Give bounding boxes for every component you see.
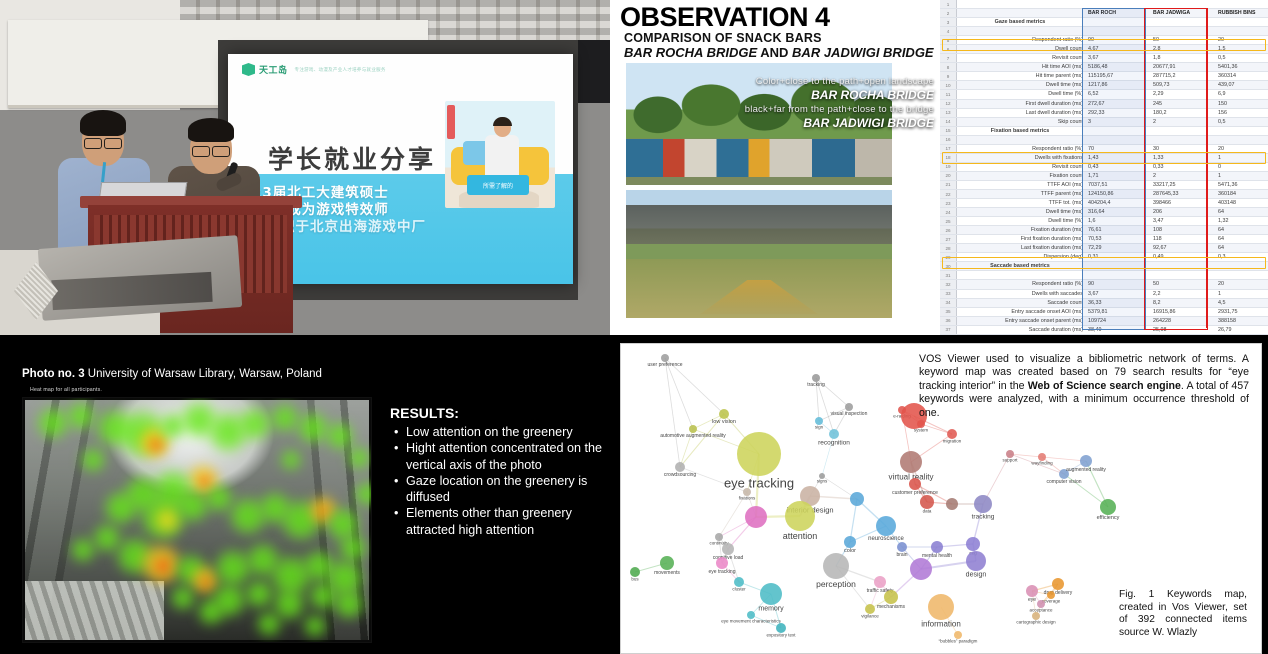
cell[interactable]: 360184	[1215, 191, 1268, 197]
network-node[interactable]	[1047, 591, 1055, 599]
subject-conj: AND	[757, 45, 792, 60]
library-floor	[25, 581, 164, 640]
spreadsheet-row[interactable]: 17Respondent ratio (%)70302020	[940, 145, 1268, 154]
cell[interactable]: 1,5	[1215, 46, 1268, 52]
spreadsheet-row[interactable]: 6Dwell count4,672,81,52,33	[940, 45, 1268, 54]
network-node[interactable]	[745, 506, 767, 528]
row-label: Hit time parent (ms)	[957, 73, 1085, 79]
network-node[interactable]	[966, 551, 986, 571]
row-label: Last dwell duration (ms)	[957, 110, 1085, 116]
network-node[interactable]	[1026, 585, 1038, 597]
network-node[interactable]	[689, 425, 697, 433]
heatmap-results-panel: Photo no. 3 University of Warsaw Library…	[0, 343, 610, 652]
cell[interactable]: 64	[1215, 236, 1268, 242]
row-label: Dwell time (%)	[957, 218, 1085, 224]
cell[interactable]: 64	[1215, 245, 1268, 251]
row-label: TTFF parent (ms)	[957, 191, 1085, 197]
observation-subtitle: COMPARISON OF SNACK BARS	[624, 31, 822, 45]
spreadsheet-row[interactable]: 16	[940, 136, 1268, 145]
cell[interactable]: 70	[1085, 146, 1150, 152]
row-label: TTFF AOI (ms)	[957, 182, 1085, 188]
spreadsheet-row[interactable]: 19Revisit count0,430,3300,5	[940, 163, 1268, 172]
row-number: 34	[940, 299, 957, 307]
network-node[interactable]	[716, 557, 728, 569]
row-number: 5	[940, 36, 957, 44]
cell[interactable]: 360314	[1215, 73, 1268, 79]
row-number: 23	[940, 199, 957, 207]
cell[interactable]: 1,32	[1215, 218, 1268, 224]
heat-blob	[103, 490, 139, 526]
heat-blob	[80, 447, 106, 473]
presenter-left-glasses-2	[104, 138, 122, 149]
row-label: Dwell time (%)	[957, 91, 1085, 97]
network-node[interactable]	[900, 451, 922, 473]
spreadsheet-row[interactable]: 27First fixation duration (ms)70,5311864…	[940, 235, 1268, 244]
subject-b: BAR JADWIGI BRIDGE	[792, 45, 934, 60]
network-node[interactable]	[1059, 469, 1069, 479]
photo-b-label: BAR JADWIGI BRIDGE	[803, 116, 934, 130]
cell[interactable]: 509,73	[1150, 82, 1215, 88]
row-number: 33	[940, 290, 957, 298]
row-label: Last fixation duration (ms)	[957, 245, 1085, 251]
cell[interactable]: 156	[1215, 110, 1268, 116]
spreadsheet-row[interactable]: 2BAR ROCHBAR JADWIGARUBBISH BINSGYM	[940, 9, 1268, 18]
row-number: 4	[940, 27, 957, 35]
cell[interactable]: 20	[1215, 281, 1268, 287]
cell[interactable]: 1	[1215, 291, 1268, 297]
row-number: 7	[940, 54, 957, 62]
cell[interactable]: 20	[1215, 146, 1268, 152]
network-node[interactable]	[876, 516, 896, 536]
cell[interactable]: 264228	[1150, 318, 1215, 324]
result-text: Hight attention concentrated on the vert…	[406, 441, 602, 471]
row-number: 20	[940, 172, 957, 180]
network-node[interactable]	[920, 495, 934, 509]
photo-a-label: BAR ROCHA BRIDGE	[811, 88, 934, 102]
row-number: 29	[940, 253, 957, 261]
row-label: Dwell time (ms)	[957, 82, 1085, 88]
cell[interactable]: 272,67	[1085, 101, 1150, 107]
observation-title: OBSERVATION 4	[620, 2, 830, 33]
cell[interactable]: 180,2	[1150, 110, 1215, 116]
network-node[interactable]	[1032, 612, 1040, 620]
spreadsheet-row[interactable]: 32Respondent ratio (%)90502060	[940, 280, 1268, 289]
network-node[interactable]	[910, 558, 932, 580]
row-label: Respondent ratio (%)	[957, 146, 1085, 152]
spreadsheet-row[interactable]: 26Fixation duration (ms)76,611086480	[940, 226, 1268, 235]
cell[interactable]: 33217,25	[1150, 182, 1215, 188]
cell[interactable]: 36,33	[1085, 300, 1150, 306]
column-header[interactable]: BAR JADWIGA	[1150, 10, 1215, 16]
photo-subcaption: Heat map for all participants.	[30, 387, 102, 393]
heat-blob	[70, 537, 96, 563]
network-node[interactable]	[630, 567, 640, 577]
cell[interactable]: 26,79	[1215, 327, 1268, 333]
results-heading: RESULTS:	[390, 405, 605, 421]
cell[interactable]: 92,67	[1150, 245, 1215, 251]
row-number: 16	[940, 136, 957, 144]
spreadsheet-row[interactable]: 18Dwells with fixations1,431,3311,3	[940, 154, 1268, 163]
network-node[interactable]	[954, 631, 962, 639]
spreadsheet-row[interactable]: 29Dispersion (deg)0,310,490,30,4	[940, 253, 1268, 262]
row-label: TTFF tot. (ms)	[957, 200, 1085, 206]
cell[interactable]: 30	[1150, 146, 1215, 152]
network-node[interactable]	[947, 429, 957, 439]
row-label: Dispersion (deg)	[957, 254, 1085, 260]
network-node[interactable]	[1052, 578, 1064, 590]
row-label: Gaze based metrics	[957, 19, 1085, 25]
network-node[interactable]	[743, 488, 751, 496]
row-number: 14	[940, 118, 957, 126]
network-node[interactable]	[909, 478, 921, 490]
cell[interactable]: 76,61	[1085, 227, 1150, 233]
cell[interactable]: 1217,86	[1085, 82, 1150, 88]
brand-tagline: 专注游戏、动漫及产业人才培养与就业服务	[295, 67, 386, 73]
network-node[interactable]	[776, 623, 786, 633]
spreadsheet-row[interactable]: 25Dwell time (%)1,63,471,322,95	[940, 217, 1268, 226]
cell[interactable]: 0,3	[1215, 254, 1268, 260]
spreadsheet-row[interactable]: 30Saccade based metrics	[940, 262, 1268, 271]
spreadsheet-row[interactable]: 15Fixation based metrics	[940, 127, 1268, 136]
cell[interactable]: 2,2	[1150, 291, 1215, 297]
network-node[interactable]	[1037, 600, 1045, 608]
heat-blob	[92, 523, 122, 553]
vos-viewer-panel: user preferencetrackinglow visionautomot…	[620, 343, 1262, 654]
cell[interactable]: 1	[1215, 155, 1268, 161]
network-node[interactable]	[844, 536, 856, 548]
spreadsheet-grid[interactable]: 12BAR ROCHBAR JADWIGARUBBISH BINSGYM3Gaz…	[940, 0, 1268, 335]
cell[interactable]: 72,29	[1085, 245, 1150, 251]
row-label: Revisit count	[957, 164, 1085, 170]
heat-blob	[303, 614, 327, 638]
cell[interactable]: 0	[1215, 164, 1268, 170]
presenter-right-glasses	[192, 146, 210, 157]
network-node[interactable]	[815, 417, 823, 425]
network-node[interactable]	[850, 492, 864, 506]
result-item: • Gaze location on the greenery is diffu…	[406, 473, 605, 506]
cell[interactable]: 1,71	[1085, 173, 1150, 179]
presenter-left-glasses	[84, 138, 102, 149]
cell[interactable]: 64	[1215, 209, 1268, 215]
row-number: 17	[940, 145, 957, 153]
network-node[interactable]	[1080, 455, 1092, 467]
row-label: Dwell time (ms)	[957, 209, 1085, 215]
cell[interactable]: 398466	[1150, 200, 1215, 206]
result-item: • Elements other than greenery attracted…	[406, 505, 605, 538]
cell[interactable]: 2931,75	[1215, 309, 1268, 315]
cell[interactable]: 316,64	[1085, 209, 1150, 215]
cell[interactable]: 109724	[1085, 318, 1150, 324]
network-node[interactable]	[966, 537, 980, 551]
network-node[interactable]	[845, 403, 853, 411]
cell[interactable]: 2	[1150, 119, 1215, 125]
cell[interactable]: 5379,81	[1085, 309, 1150, 315]
row-number: 25	[940, 217, 957, 225]
network-node[interactable]	[747, 611, 755, 619]
heat-blob	[66, 401, 96, 431]
row-number: 15	[940, 127, 957, 135]
heat-blob	[280, 449, 302, 471]
cell[interactable]: 1,33	[1150, 155, 1215, 161]
cell[interactable]: 50	[1150, 281, 1215, 287]
spreadsheet-row[interactable]: 24Dwell time (ms)316,6420664234	[940, 208, 1268, 217]
row-label: Dwells with fixations	[957, 155, 1085, 161]
person-hair	[493, 117, 512, 126]
spreadsheet-row[interactable]: 11Dwell time (%)6,522,296,95,34	[940, 90, 1268, 99]
cell[interactable]: 388158	[1215, 318, 1268, 324]
spreadsheet-row[interactable]: 33Dwells with saccades3,672,211,83	[940, 290, 1268, 299]
cell[interactable]: 439,07	[1215, 82, 1268, 88]
cell[interactable]: 1	[1215, 173, 1268, 179]
snack-bar-containers	[626, 139, 892, 177]
cell[interactable]: 0,33	[1150, 164, 1215, 170]
observation-subjects: BAR ROCHA BRIDGE AND BAR JADWIGI BRIDGE	[624, 45, 934, 60]
network-node[interactable]	[897, 542, 907, 552]
row-number: 22	[940, 190, 957, 198]
network-node[interactable]	[823, 553, 849, 579]
heat-blob	[338, 533, 368, 563]
cell[interactable]: 118	[1150, 236, 1215, 242]
row-number: 19	[940, 163, 957, 171]
row-label: Fixation count	[957, 173, 1085, 179]
presenter-right-glasses-2	[212, 146, 230, 157]
cell[interactable]: 6,9	[1215, 91, 1268, 97]
row-number: 8	[940, 63, 957, 71]
classroom-photo-panel: 天工岛 专注游戏、动漫及产业人才培养与就业服务 学长就业分享 23届北工大建筑硕…	[0, 0, 610, 335]
spreadsheet-row[interactable]: 21TTFF AOI (ms)7037,5133217,255471,36295…	[940, 181, 1268, 190]
network-node[interactable]	[760, 583, 782, 605]
cell[interactable]: 115195,67	[1085, 73, 1150, 79]
row-label: Dwells with saccades	[957, 291, 1085, 297]
row-label: First fixation duration (ms)	[957, 236, 1085, 242]
heat-blob	[333, 588, 365, 620]
observation-slide-panel: OBSERVATION 4 COMPARISON OF SNACK BARS B…	[610, 0, 940, 335]
spreadsheet-row[interactable]: 31	[940, 271, 1268, 280]
figure-caption: Fig. 1 Keywords map, created in Vos View…	[1119, 589, 1247, 639]
row-number: 26	[940, 226, 957, 234]
cell[interactable]: 5471,36	[1215, 182, 1268, 188]
cell[interactable]: 3,67	[1085, 291, 1150, 297]
cell[interactable]: 404204,4	[1085, 200, 1150, 206]
photo-caption: Photo no. 3 University of Warsaw Library…	[22, 368, 322, 380]
network-node[interactable]	[734, 577, 744, 587]
heat-blob	[347, 446, 371, 470]
heat-blob	[151, 554, 175, 578]
cell[interactable]: 2,29	[1150, 91, 1215, 97]
row-label: Fixation duration (ms)	[957, 227, 1085, 233]
spreadsheet-row[interactable]: 35Entry saccade onset AOI (ms)5379,81169…	[940, 308, 1268, 317]
cell[interactable]: 150	[1215, 101, 1268, 107]
network-node[interactable]	[722, 543, 734, 555]
network-node[interactable]	[974, 495, 992, 513]
network-node[interactable]	[675, 462, 685, 472]
spreadsheet-row[interactable]: 5Respondent ratio (%)90502060	[940, 36, 1268, 45]
row-label: Entry saccade onset parent (ms)	[957, 318, 1085, 324]
spreadsheet-row[interactable]: 36Entry saccade onset parent (ms)1097242…	[940, 317, 1268, 326]
row-label: Saccade count	[957, 300, 1085, 306]
cell[interactable]: 292,33	[1085, 110, 1150, 116]
network-node[interactable]	[1006, 450, 1014, 458]
cell[interactable]: 90	[1085, 37, 1150, 43]
cell[interactable]: 4,5	[1215, 300, 1268, 306]
result-text: Gaze location on the greenery is diffuse…	[406, 474, 587, 504]
slide-logo: 天工岛 专注游戏、动漫及产业人才培养与就业服务	[242, 63, 386, 76]
network-node[interactable]	[819, 473, 825, 479]
cell[interactable]: 3,67	[1085, 55, 1150, 61]
heat-blob	[256, 611, 282, 637]
cell[interactable]: 1,8	[1150, 55, 1215, 61]
row-number: 3	[940, 18, 957, 26]
result-item: • Hight attention concentrated on the ve…	[406, 440, 605, 473]
cell[interactable]: 64	[1215, 227, 1268, 233]
heat-blob	[237, 406, 273, 442]
heat-blob	[197, 598, 225, 626]
presenter-right-hair	[188, 118, 234, 142]
row-label: Entry saccade onset AOI (ms)	[957, 309, 1085, 315]
cell[interactable]: 245	[1150, 101, 1215, 107]
network-node[interactable]	[829, 429, 839, 439]
cell[interactable]: 20677,91	[1150, 64, 1215, 70]
network-node[interactable]	[874, 576, 886, 588]
cell[interactable]: 16915,86	[1150, 309, 1215, 315]
row-label: Saccade based metrics	[957, 263, 1085, 269]
row-number: 24	[940, 208, 957, 216]
spreadsheet-row[interactable]: 9Hit time parent (ms)115195,67287715,236…	[940, 72, 1268, 81]
spreadsheet-row[interactable]: 1	[940, 0, 1268, 9]
heat-blob	[244, 579, 274, 609]
network-node[interactable]	[737, 432, 781, 476]
network-node[interactable]	[661, 354, 669, 362]
column-header[interactable]: RUBBISH BINS	[1215, 10, 1268, 16]
cell[interactable]: 3,47	[1150, 218, 1215, 224]
cell[interactable]: 38,49	[1085, 327, 1150, 333]
cell[interactable]: 287645,33	[1150, 191, 1215, 197]
spreadsheet-row[interactable]: 37Saccade duration (ms)38,4925,9826,7941…	[940, 326, 1268, 335]
row-number: 35	[940, 308, 957, 316]
row-number: 36	[940, 317, 957, 325]
subject-a: BAR ROCHA BRIDGE	[624, 45, 757, 60]
cell[interactable]: 25,98	[1150, 327, 1215, 333]
spreadsheet-panel[interactable]: 12BAR ROCHBAR JADWIGARUBBISH BINSGYM3Gaz…	[940, 0, 1268, 335]
spreadsheet-row[interactable]: 22TTFF parent (ms)124150,86287645,333601…	[940, 190, 1268, 199]
spreadsheet-row[interactable]: 4	[940, 27, 1268, 36]
cell[interactable]: 4,67	[1085, 46, 1150, 52]
spreadsheet-row[interactable]: 7Revisit count3,671,80,51,33	[940, 54, 1268, 63]
cell[interactable]: 1,6	[1085, 218, 1150, 224]
cell[interactable]: 287715,2	[1150, 73, 1215, 79]
spreadsheet-row[interactable]: 8Hit time AOI (ms)5186,4820677,915401,36…	[940, 63, 1268, 72]
cell[interactable]: 3	[1085, 119, 1150, 125]
cell[interactable]: 108	[1150, 227, 1215, 233]
photo-caption-number: Photo no. 3	[22, 368, 85, 380]
cell[interactable]: 90	[1085, 281, 1150, 287]
photo-stripe	[447, 105, 455, 139]
vos-text-bold: Web of Science search engine	[1028, 380, 1181, 392]
vos-description: VOS Viewer used to visualize a bibliomet…	[919, 353, 1249, 420]
photo-b-caption: black+far from the path+close to the bri…	[745, 104, 934, 115]
row-number: 28	[940, 244, 957, 252]
column-header[interactable]: BAR ROCH	[1085, 10, 1150, 16]
row-label: Respondent ratio (%)	[957, 37, 1085, 43]
spreadsheet-row[interactable]: 10Dwell time (ms)1217,86509,73439,07342,…	[940, 81, 1268, 90]
network-node[interactable]	[946, 498, 958, 510]
cell[interactable]: 50	[1150, 37, 1215, 43]
cell[interactable]: 8,2	[1150, 300, 1215, 306]
heat-blob	[36, 406, 70, 440]
network-node[interactable]	[660, 556, 674, 570]
row-number: 30	[940, 262, 957, 270]
brand-name: 天工岛	[259, 63, 288, 76]
network-node[interactable]	[719, 409, 729, 419]
network-node[interactable]	[931, 541, 943, 553]
screenshot-canvas: 天工岛 专注游戏、动漫及产业人才培养与就业服务 学长就业分享 23届北工大建筑硕…	[0, 0, 1268, 652]
photo-caption-location: University of Warsaw Library, Warsaw, Po…	[85, 368, 322, 380]
network-node[interactable]	[884, 590, 898, 604]
spreadsheet-row[interactable]: 3Gaze based metrics	[940, 18, 1268, 27]
spreadsheet-row[interactable]: 34Saccade count36,338,24,57,33	[940, 299, 1268, 308]
cell[interactable]: 5186,48	[1085, 64, 1150, 70]
cell[interactable]: 0,5	[1215, 55, 1268, 61]
cell[interactable]: 5401,36	[1215, 64, 1268, 70]
photo-a-caption: Color+close to the path+open landscape	[756, 76, 934, 87]
cell[interactable]: 1,43	[1085, 155, 1150, 161]
heatmap-image	[22, 397, 372, 643]
spreadsheet-row[interactable]: 20Fixation count1,71213	[940, 172, 1268, 181]
row-label: Respondent ratio (%)	[957, 281, 1085, 287]
cell[interactable]: 124150,86	[1085, 191, 1150, 197]
cell[interactable]: 2	[1150, 173, 1215, 179]
row-label: Saccade duration (ms)	[957, 327, 1085, 333]
row-number: 12	[940, 100, 957, 108]
row-label: Dwell count	[957, 46, 1085, 52]
cell[interactable]: 70,53	[1085, 236, 1150, 242]
result-text: Elements other than greenery attracted h…	[406, 506, 572, 536]
presenter-left-hair	[80, 110, 126, 136]
heat-blob	[170, 585, 196, 611]
network-node[interactable]	[928, 594, 954, 620]
network-node[interactable]	[865, 604, 875, 614]
spreadsheet-row[interactable]: 28Last fixation duration (ms)72,2992,676…	[940, 244, 1268, 253]
network-node[interactable]	[1100, 499, 1116, 515]
row-number: 31	[940, 271, 957, 279]
spreadsheet-row[interactable]: 23TTFF tot. (ms)404204,43984664031484014…	[940, 199, 1268, 208]
network-node[interactable]	[1038, 453, 1046, 461]
cell[interactable]: 0,31	[1085, 254, 1150, 260]
cell[interactable]: 403148	[1215, 200, 1268, 206]
row-number: 13	[940, 109, 957, 117]
spreadsheet-row[interactable]: 12First dwell duration (ms)272,672451503…	[940, 100, 1268, 109]
network-node[interactable]	[715, 533, 723, 541]
row-number: 6	[940, 45, 957, 53]
row-number: 21	[940, 181, 957, 189]
cell[interactable]: 6,52	[1085, 91, 1150, 97]
cell[interactable]: 20	[1215, 37, 1268, 43]
spreadsheet-row[interactable]: 13Last dwell duration (ms)292,33180,2156…	[940, 109, 1268, 118]
bridge-structure	[626, 205, 892, 243]
network-node[interactable]	[785, 501, 815, 531]
cell[interactable]: 2,8	[1150, 46, 1215, 52]
spreadsheet-row[interactable]: 14Skip count320,51,5	[940, 118, 1268, 127]
network-node[interactable]	[812, 374, 820, 382]
cell[interactable]: 7037,51	[1085, 182, 1150, 188]
cell[interactable]: 0,43	[1085, 164, 1150, 170]
heat-blob	[325, 421, 355, 451]
row-number: 11	[940, 90, 957, 98]
cell[interactable]: 0,5	[1215, 119, 1268, 125]
row-number: 1	[940, 0, 957, 8]
cell[interactable]: 0,49	[1150, 254, 1215, 260]
cell[interactable]: 206	[1150, 209, 1215, 215]
